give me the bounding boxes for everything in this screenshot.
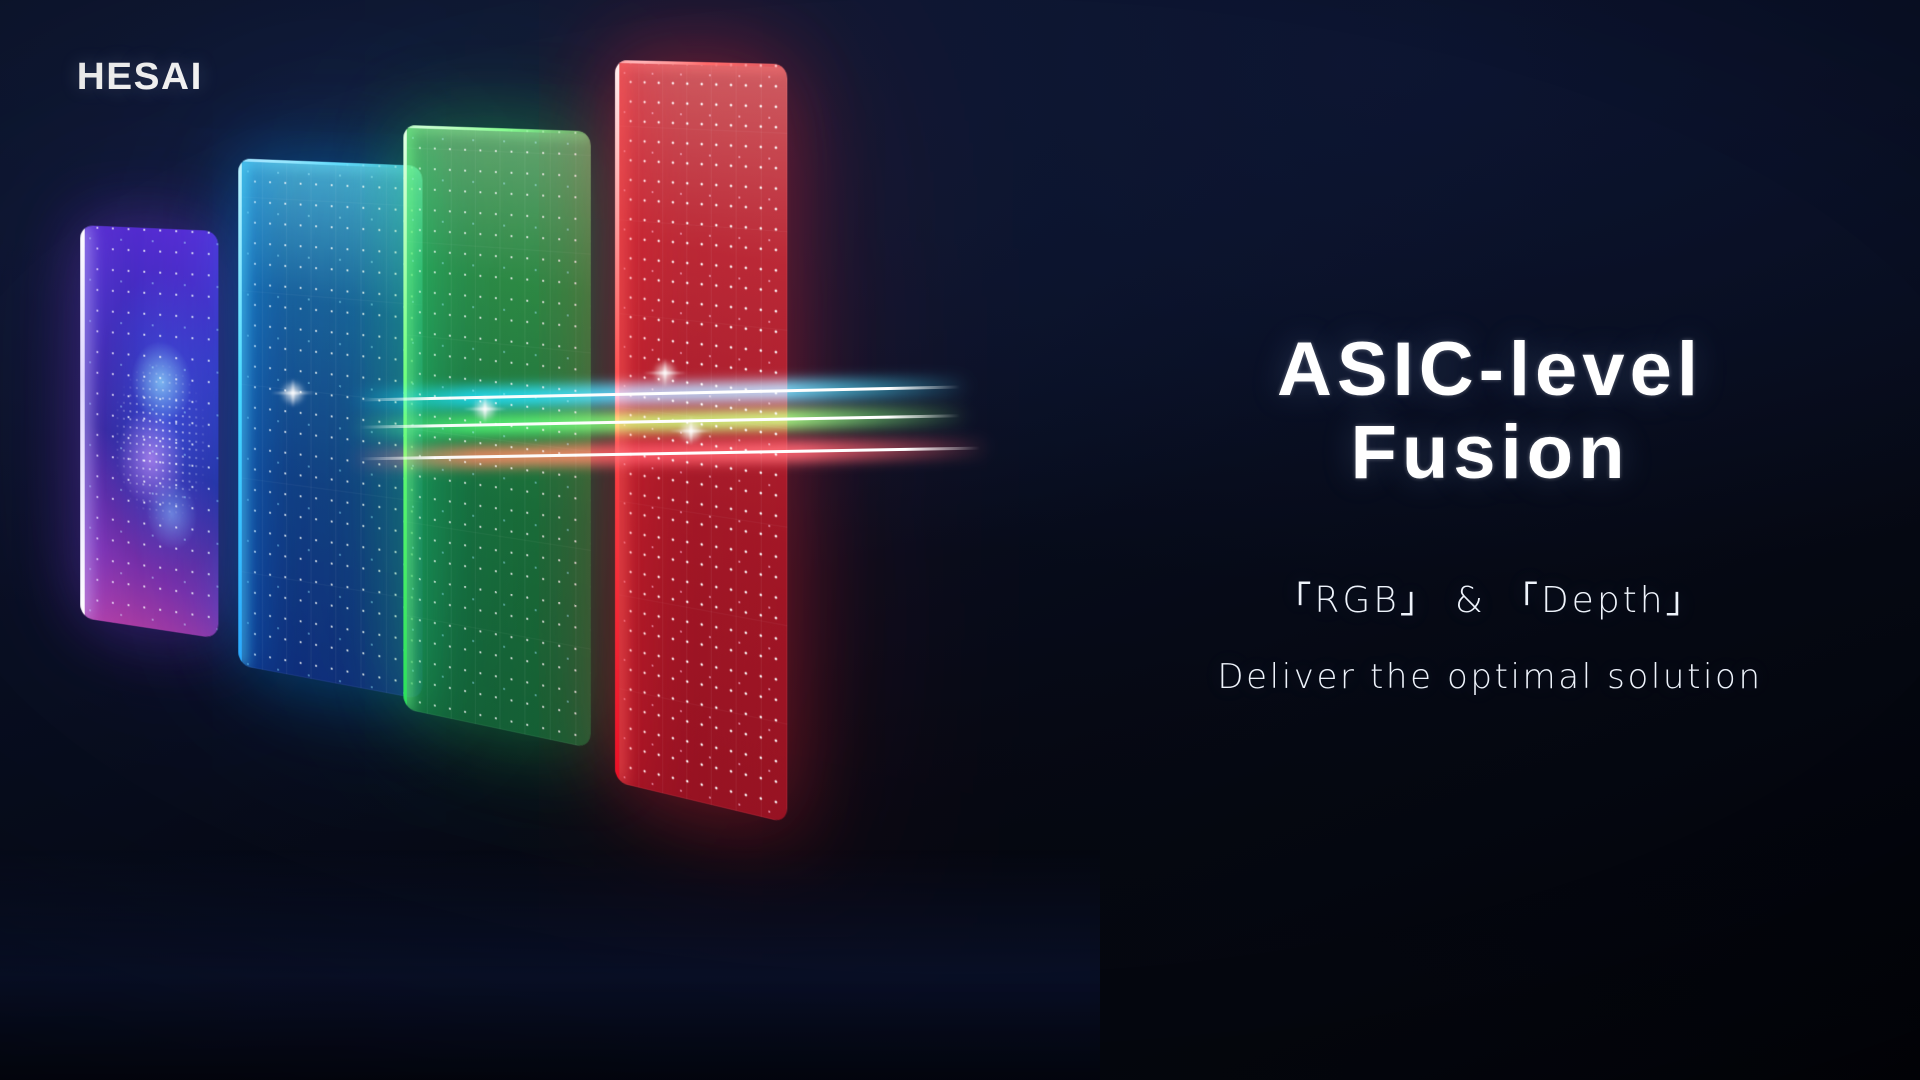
point-cloud-panel [80,225,218,639]
floor-haze [0,850,1100,1080]
dot-matrix-overlay [403,125,590,748]
blue-beam [360,385,960,401]
green-sensor-panel [403,125,590,748]
hero-banner: HESAI ASIC-level Fusion 「RGB」&「Depth」 De… [0,0,1920,1080]
red-beam [360,447,980,461]
green-beam [360,414,960,429]
panel-edge-glow [80,225,85,618]
layered-sensor-graphic [0,0,1100,1080]
dot-matrix-overlay [80,225,218,639]
rgb-label: 「RGB」 [1275,580,1438,621]
panel-edge-glow [238,158,242,665]
headline-line-2: Fusion [1140,413,1840,494]
tagline: Deliver the optimal solution [1140,657,1840,697]
headline-line-1: ASIC-level [1140,330,1840,411]
hesai-logo[interactable]: HESAI [77,58,203,96]
ampersand: & [1439,580,1502,621]
subheadline: 「RGB」&「Depth」 [1140,571,1840,623]
depth-label: 「Depth」 [1502,580,1705,621]
hero-copy: ASIC-level Fusion 「RGB」&「Depth」 Deliver … [1140,330,1840,697]
